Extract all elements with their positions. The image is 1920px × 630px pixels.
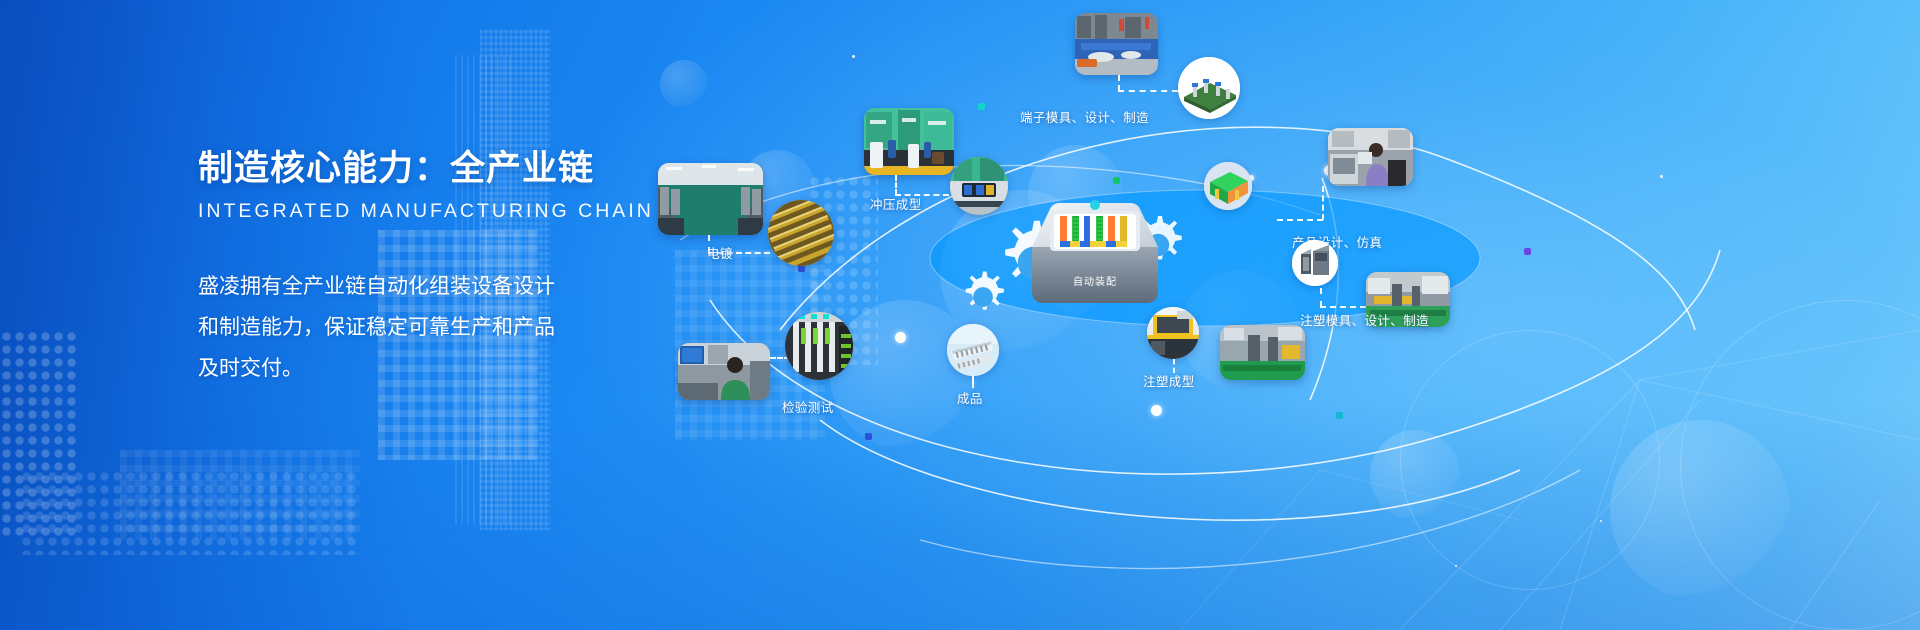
node-label-finished-product: 成品 bbox=[957, 388, 983, 407]
thumb-electroplating[interactable] bbox=[658, 163, 763, 235]
node-icon-gold-coil[interactable] bbox=[768, 200, 834, 266]
orbit-hub-dot-2 bbox=[895, 332, 906, 343]
page-title: 制造核心能力：全产业链 bbox=[198, 148, 618, 190]
inspection-test-photo bbox=[678, 343, 770, 400]
thumb-terminal-mold[interactable] bbox=[1075, 13, 1158, 75]
injection-mold-icon bbox=[1292, 240, 1338, 286]
node-label-injection-mold: 注塑模具、设计、制造 bbox=[1300, 310, 1429, 329]
press-machine-photo bbox=[950, 157, 1008, 215]
gear-small-icon bbox=[954, 268, 1012, 326]
product-design-photo bbox=[1328, 128, 1413, 186]
finished-product-photo bbox=[947, 324, 999, 376]
thumb-inspection-test[interactable] bbox=[678, 343, 770, 400]
test-fixture-photo bbox=[785, 312, 853, 380]
thumb-injection-molding[interactable] bbox=[1220, 325, 1305, 380]
node-icon-finished-product[interactable] bbox=[947, 324, 999, 376]
manufacturing-chain-diagram: 自动装配 自动装配 电镀 bbox=[620, 0, 1920, 630]
terminal-mold-photo bbox=[1075, 13, 1158, 75]
node-icon-test-fixture[interactable] bbox=[785, 312, 853, 380]
connector-finished-product-v bbox=[972, 376, 974, 388]
node-label-inspection-test: 检验测试 bbox=[782, 397, 834, 416]
thumb-stamping[interactable] bbox=[864, 108, 954, 175]
connector-injection-mold-v bbox=[1320, 288, 1322, 307]
mold-base-icon bbox=[1178, 57, 1240, 119]
connector-terminal-mold-h bbox=[1118, 90, 1178, 92]
node-icon-injection-molding[interactable] bbox=[1147, 307, 1199, 359]
connector-injection-mold-h bbox=[1320, 306, 1366, 308]
electroplating-photo bbox=[658, 163, 763, 235]
3d-model-icon bbox=[1204, 162, 1252, 210]
node-label-stamping: 冲压成型 bbox=[870, 194, 922, 213]
node-icon-press-machine[interactable] bbox=[950, 157, 1008, 215]
page-subtitle-en: INTEGRATED MANUFACTURING CHAIN bbox=[198, 200, 618, 223]
node-icon-mold-base[interactable] bbox=[1178, 57, 1240, 119]
gold-coil-photo bbox=[768, 200, 834, 266]
connector-product-design-h bbox=[1277, 219, 1323, 221]
orbit-hub-dot-3 bbox=[1151, 405, 1162, 416]
node-label-terminal-mold: 端子模具、设计、制造 bbox=[1020, 107, 1149, 126]
connector-terminal-mold-v bbox=[1118, 75, 1120, 91]
connector-product-design-v bbox=[1322, 186, 1324, 220]
connector-stamping-v bbox=[895, 175, 897, 195]
automated-assembly-device: 自动装配 bbox=[1020, 195, 1170, 310]
injection-molding-photo-2 bbox=[1220, 325, 1305, 380]
node-label-injection-molding: 注塑成型 bbox=[1143, 371, 1195, 390]
node-icon-injection-mold[interactable] bbox=[1292, 240, 1338, 286]
stamping-photo bbox=[864, 108, 954, 175]
node-label-electroplating: 电镀 bbox=[707, 243, 733, 262]
injection-molding-photo bbox=[1147, 307, 1199, 359]
banner-copy: 制造核心能力：全产业链 INTEGRATED MANUFACTURING CHA… bbox=[198, 148, 618, 389]
banner-stage: 制造核心能力：全产业链 INTEGRATED MANUFACTURING CHA… bbox=[0, 0, 1920, 630]
page-description: 盛凌拥有全产业链自动化组装设备设计和制造能力，保证稳定可靠生产和产品及时交付。 bbox=[198, 266, 556, 389]
thumb-product-design[interactable] bbox=[1328, 128, 1413, 186]
node-icon-3d-model[interactable] bbox=[1204, 162, 1252, 210]
